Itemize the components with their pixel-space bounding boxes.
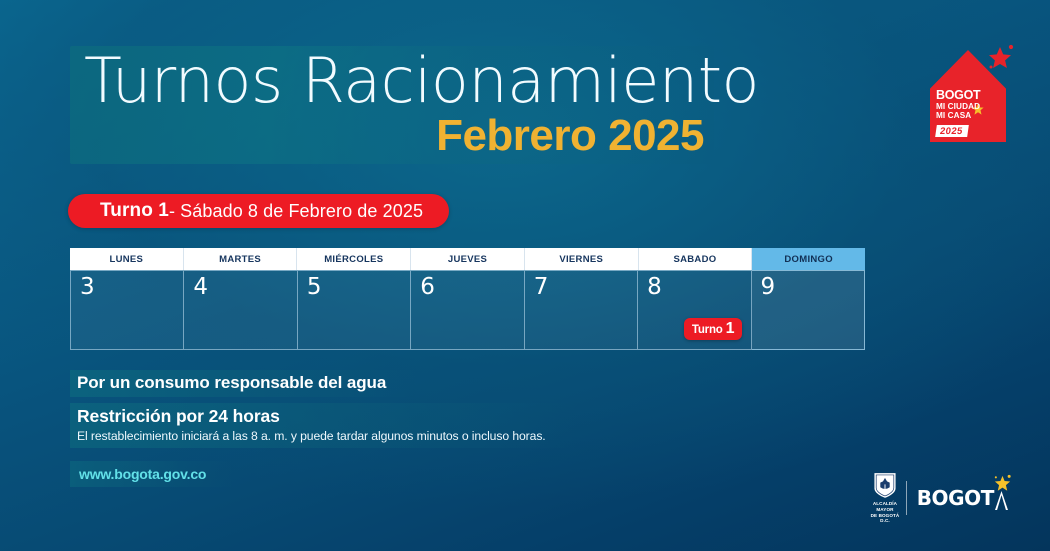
day-number: 7 [534, 275, 549, 300]
calendar-cell-3: 3 [70, 270, 184, 350]
day-number: 5 [307, 275, 322, 300]
bogota-wordmark: BOGOT [917, 486, 1008, 510]
day-number: 9 [761, 275, 776, 300]
calendar-header-miercoles: MIÉRCOLES [297, 248, 411, 270]
house-logo-year: 2025 [935, 125, 968, 137]
calendar-day-row: 3 4 5 6 7 8 Turno 1 9 [70, 270, 865, 350]
day-number: 6 [420, 275, 435, 300]
calendar-header-martes: MARTES [184, 248, 298, 270]
house-logo-line3: MI CASA [936, 111, 1000, 120]
calendar-cell-9: 9 [752, 270, 865, 350]
alcaldia-text: ALCALDÍA MAYOR DE BOGOTÁ D.C. [868, 501, 902, 524]
message-consumo-responsable: Por un consumo responsable del agua [77, 373, 386, 393]
message-restablecimiento-detail: El restablecimiento iniciará a las 8 a. … [77, 429, 546, 443]
calendar-cell-5: 5 [298, 270, 411, 350]
calendar-header-domingo: DOMINGO [752, 248, 865, 270]
footer-logos: ALCALDÍA MAYOR DE BOGOTÁ D.C. BOGOT [868, 474, 1008, 522]
turno-banner: Turno 1 - Sábado 8 de Febrero de 2025 [68, 194, 449, 228]
message-restriccion: Restricción por 24 horas [77, 406, 280, 427]
alcaldia-logo: ALCALDÍA MAYOR DE BOGOTÁ D.C. [868, 472, 902, 524]
calendar-header-jueves: JUEVES [411, 248, 525, 270]
bogota-wordmark-text: BOGOT [917, 486, 994, 510]
house-logo-text: BOGOT MI CIUDAD MI CASA 2025 [936, 89, 1000, 138]
turno-badge-number: 1 [726, 321, 735, 337]
yellow-star-icon [993, 474, 1012, 493]
calendar-header-sabado: SABADO [639, 248, 753, 270]
poster-canvas: Turnos Racionamiento Febrero 2025 BOGOT … [0, 0, 1050, 551]
calendar-header-viernes: VIERNES [525, 248, 639, 270]
turno-banner-strong: Turno 1 [100, 200, 169, 222]
star-icon [985, 42, 1015, 72]
day-number: 3 [80, 275, 95, 300]
alcaldia-line2: DE BOGOTÁ D.C. [868, 513, 902, 524]
bogota-a-glyph-icon [995, 491, 1008, 510]
turno-banner-date: - Sábado 8 de Febrero de 2025 [169, 201, 423, 222]
house-logo-line1: BOGOT [936, 89, 1000, 102]
day-number: 4 [193, 275, 208, 300]
bogota-mi-casa-logo: BOGOT MI CIUDAD MI CASA 2025 [930, 42, 1014, 146]
calendar-cell-4: 4 [184, 270, 297, 350]
calendar-header-row: LUNES MARTES MIÉRCOLES JUEVES VIERNES SA… [70, 248, 865, 270]
turno-badge: Turno 1 [684, 318, 742, 340]
calendar-cell-8: 8 Turno 1 [638, 270, 751, 350]
page-subtitle: Febrero 2025 [84, 114, 704, 158]
calendar-header-lunes: LUNES [70, 248, 184, 270]
coat-of-arms-icon [873, 472, 897, 499]
day-number: 8 [647, 275, 662, 300]
calendar: LUNES MARTES MIÉRCOLES JUEVES VIERNES SA… [70, 248, 865, 350]
calendar-cell-6: 6 [411, 270, 524, 350]
house-logo-line2: MI CIUDAD [936, 102, 1000, 111]
alcaldia-line1: ALCALDÍA MAYOR [868, 501, 902, 512]
website-url[interactable]: www.bogota.gov.co [79, 466, 206, 482]
calendar-cell-7: 7 [525, 270, 638, 350]
page-title: Turnos Racionamiento [84, 50, 759, 112]
turno-badge-label: Turno [692, 324, 723, 336]
footer-divider [906, 481, 907, 515]
